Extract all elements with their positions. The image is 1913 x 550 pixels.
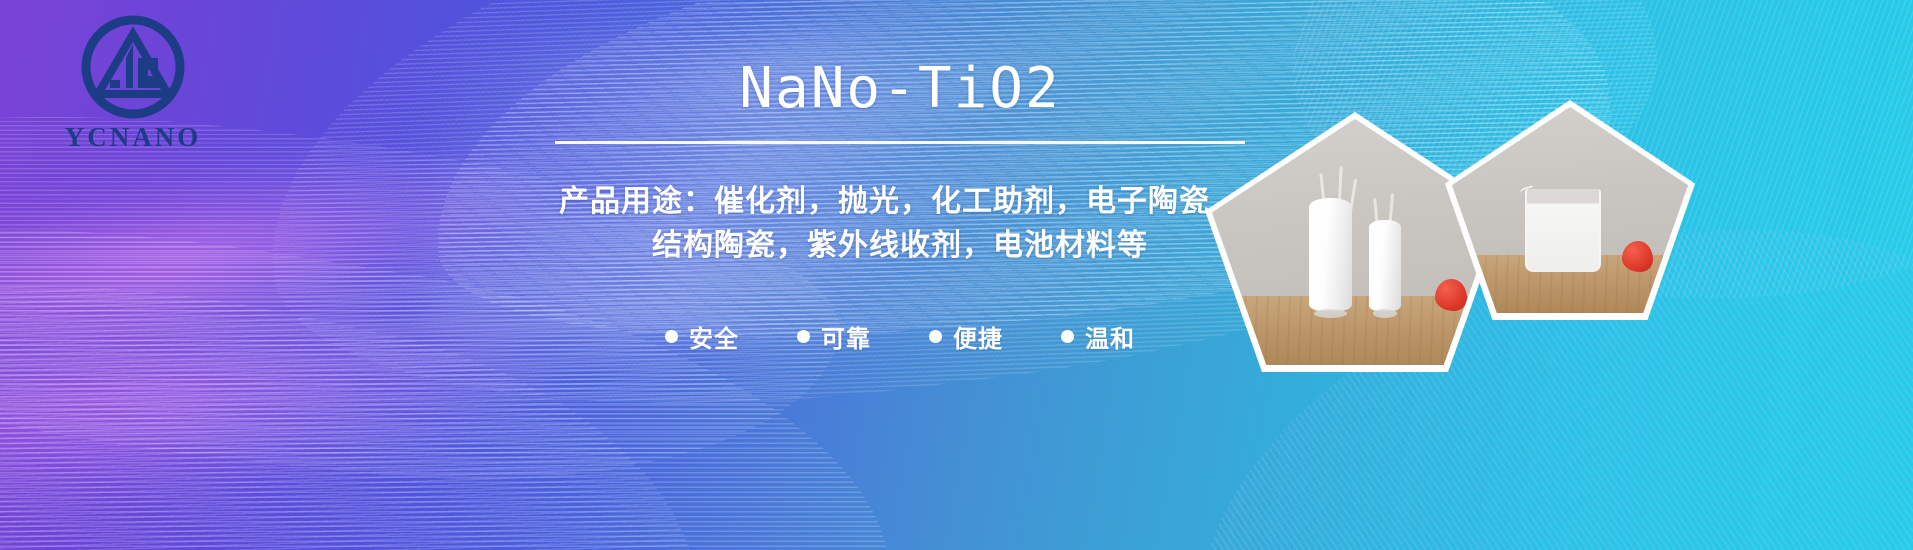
feature-label: 便捷 — [953, 319, 1003, 354]
brand-wordmark: YCNANO — [65, 122, 202, 153]
product-description: 产品用途：催化剂，抛光，化工助剂，电子陶瓷， 结构陶瓷，紫外线收剂，电池材料等 — [480, 180, 1320, 269]
bullet-dot-icon — [665, 330, 678, 343]
feature-label: 可靠 — [821, 319, 871, 354]
feature-item-safe: 安全 — [665, 319, 739, 354]
red-decor-item — [1622, 241, 1653, 272]
photo-frame-inner — [1452, 107, 1688, 313]
product-banner: YCNANO NaNo-TiO2 产品用途：催化剂，抛光，化工助剂，电子陶瓷， … — [0, 0, 1913, 550]
bullet-dot-icon — [797, 330, 810, 343]
feature-item-reliable: 可靠 — [797, 319, 871, 354]
page-title: NaNo-TiO2 — [480, 60, 1320, 119]
bullet-dot-icon — [929, 330, 942, 343]
beaker-with-white-liquid — [1525, 189, 1601, 271]
bullet-dot-icon — [1061, 330, 1074, 343]
photo-scene-beaker — [1452, 107, 1688, 313]
feature-item-mild: 温和 — [1061, 319, 1135, 354]
white-vase-small — [1369, 220, 1400, 311]
description-line-2: 结构陶瓷，紫外线收剂，电池材料等 — [480, 224, 1320, 268]
hero-copy: NaNo-TiO2 产品用途：催化剂，抛光，化工助剂，电子陶瓷， 结构陶瓷，紫外… — [480, 60, 1320, 354]
feature-label: 安全 — [689, 319, 739, 354]
white-vase-large — [1309, 198, 1352, 311]
feature-list: 安全 可靠 便捷 温和 — [480, 319, 1320, 354]
feature-label: 温和 — [1085, 319, 1135, 354]
red-decor-item — [1435, 279, 1466, 311]
product-photo-beaker[interactable] — [1445, 100, 1695, 320]
title-divider — [555, 141, 1245, 144]
ycnano-triangle-circle-logo-icon — [80, 14, 186, 120]
brand-logo[interactable]: YCNANO — [38, 14, 228, 154]
feature-item-convenient: 便捷 — [929, 319, 1003, 354]
description-line-1: 产品用途：催化剂，抛光，化工助剂，电子陶瓷， — [480, 180, 1320, 224]
